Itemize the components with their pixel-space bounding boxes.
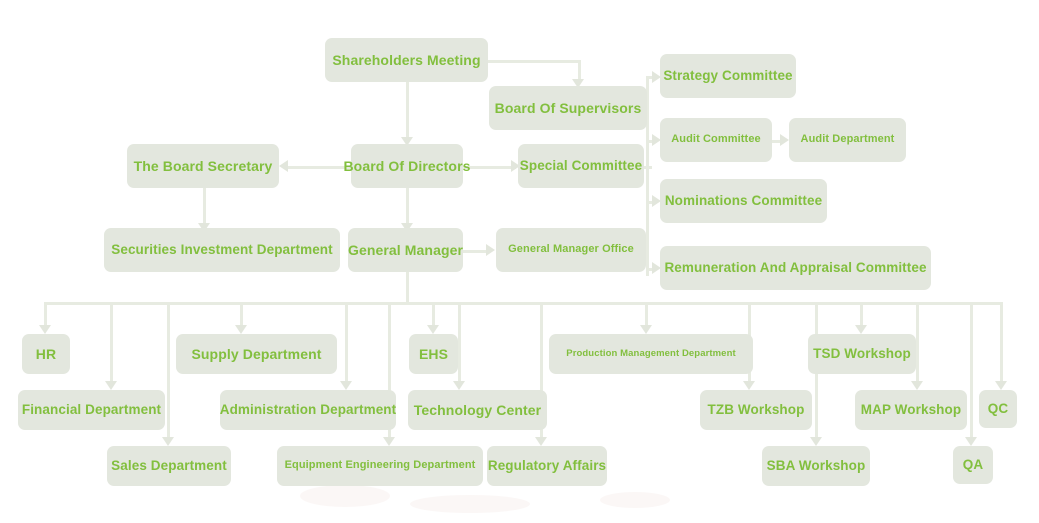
arrowhead-supply-department xyxy=(235,325,247,334)
connector-shareholders-to-supervisors xyxy=(487,60,580,63)
node-board-of-supervisors[interactable]: Board Of Supervisors xyxy=(489,86,647,130)
connector-gm-to-trunk xyxy=(406,272,409,304)
node-shareholders-meeting[interactable]: Shareholders Meeting xyxy=(325,38,488,82)
node-equipment-engineering-department[interactable]: Equipment Engineering Department xyxy=(277,446,483,486)
node-production-management-department[interactable]: Production Management Department xyxy=(549,334,753,374)
node-technology-center[interactable]: Technology Center xyxy=(408,390,547,430)
arrowhead-regulatory-affairs xyxy=(535,437,547,446)
node-tsd-workshop[interactable]: TSD Workshop xyxy=(808,334,916,374)
arrowhead-map-workshop xyxy=(911,381,923,390)
arrowhead-equipment-engineering xyxy=(383,437,395,446)
connector-shareholders-to-directors xyxy=(406,82,409,140)
trunk-drop-qc xyxy=(1000,302,1003,384)
arrowhead-tsd-workshop xyxy=(855,325,867,334)
node-qc[interactable]: QC xyxy=(979,390,1017,428)
node-securities-investment-department[interactable]: Securities Investment Department xyxy=(104,228,340,272)
trunk-drop-sales xyxy=(167,302,170,440)
arrowhead-board-secretary xyxy=(279,160,288,172)
arrowhead-ehs xyxy=(427,325,439,334)
node-remuneration-and-appraisal-committee[interactable]: Remuneration And Appraisal Committee xyxy=(660,246,931,290)
connector-directors-to-secretary xyxy=(288,166,352,169)
arrowhead-general-manager-office xyxy=(486,244,495,256)
trunk-drop-map-workshop xyxy=(916,302,919,384)
node-financial-department[interactable]: Financial Department xyxy=(18,390,165,430)
org-chart-canvas: Shareholders Meeting Board Of Supervisor… xyxy=(0,0,1039,523)
arrowhead-hr xyxy=(39,325,51,334)
arrowhead-audit-department xyxy=(780,134,789,146)
arrowhead-sba-workshop xyxy=(810,437,822,446)
trunk-drop-financial xyxy=(110,302,113,384)
connector-gm-to-gm-office xyxy=(463,250,488,253)
node-map-workshop[interactable]: MAP Workshop xyxy=(855,390,967,430)
node-sales-department[interactable]: Sales Department xyxy=(107,446,231,486)
node-sba-workshop[interactable]: SBA Workshop xyxy=(762,446,870,486)
arrowhead-qa xyxy=(965,437,977,446)
node-nominations-committee[interactable]: Nominations Committee xyxy=(660,179,827,223)
node-ehs[interactable]: EHS xyxy=(409,334,458,374)
node-administration-department[interactable]: Administration Department xyxy=(220,390,396,430)
node-general-manager[interactable]: General Manager xyxy=(348,228,463,272)
arrowhead-technology-center xyxy=(453,381,465,390)
trunk-drop-administration xyxy=(345,302,348,384)
node-audit-department[interactable]: Audit Department xyxy=(789,118,906,162)
node-qa[interactable]: QA xyxy=(953,446,993,484)
node-hr[interactable]: HR xyxy=(22,334,70,374)
node-supply-department[interactable]: Supply Department xyxy=(176,334,337,374)
arrowhead-production-management xyxy=(640,325,652,334)
node-audit-committee[interactable]: Audit Committee xyxy=(660,118,772,162)
node-general-manager-office[interactable]: General Manager Office xyxy=(496,228,646,272)
watermark-blob xyxy=(410,495,530,513)
node-the-board-secretary[interactable]: The Board Secretary xyxy=(127,144,279,188)
watermark-blob xyxy=(300,485,390,507)
node-tzb-workshop[interactable]: TZB Workshop xyxy=(700,390,812,430)
arrowhead-tzb-workshop xyxy=(743,381,755,390)
trunk-drop-qa xyxy=(970,302,973,440)
arrowhead-financial-department xyxy=(105,381,117,390)
node-regulatory-affairs[interactable]: Regulatory Affairs xyxy=(487,446,607,486)
arrowhead-administration-department xyxy=(340,381,352,390)
main-trunk xyxy=(44,302,1002,305)
node-board-of-directors[interactable]: Board Of Directors xyxy=(351,144,463,188)
node-special-committee[interactable]: Special Committee xyxy=(518,144,644,188)
watermark-blob xyxy=(600,492,670,508)
arrowhead-sales-department xyxy=(162,437,174,446)
trunk-drop-technology-center xyxy=(458,302,461,384)
arrowhead-qc xyxy=(995,381,1007,390)
node-strategy-committee[interactable]: Strategy Committee xyxy=(660,54,796,98)
connector-directors-to-general-manager xyxy=(406,188,409,226)
connector-secretary-to-securities xyxy=(203,188,206,226)
